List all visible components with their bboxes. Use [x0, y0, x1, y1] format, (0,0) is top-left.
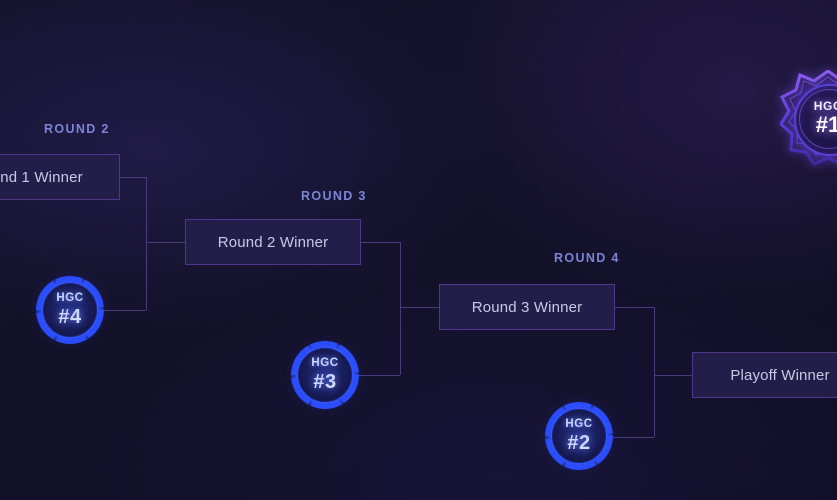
- match-box-round-2-winner[interactable]: Round 2 Winner: [185, 219, 361, 265]
- connector-r3-merge: [400, 307, 439, 308]
- connector-r1-out: [120, 177, 146, 178]
- seed-badge-3[interactable]: HGC#3: [291, 341, 359, 409]
- champion-seed-number: #1: [816, 114, 837, 136]
- champion-tag: HGC: [814, 100, 837, 112]
- round-header-3: ROUND 4: [554, 251, 620, 265]
- connector-r3-out: [615, 307, 654, 308]
- round-header-2: ROUND 3: [301, 189, 367, 203]
- seed-core: HGC#4: [44, 284, 96, 336]
- seed-tag: HGC: [311, 358, 338, 370]
- bracket-canvas: ROUND 2ROUND 3ROUND 4 Round 1 WinnerRoun…: [0, 0, 837, 500]
- match-box-round-3-winner[interactable]: Round 3 Winner: [439, 284, 615, 330]
- match-box-playoff-winner[interactable]: Playoff Winner: [692, 352, 837, 398]
- connector-r2-out: [361, 242, 400, 243]
- connector-r4-bracket-v: [654, 307, 655, 437]
- connector-seed4-out: [104, 310, 146, 311]
- connector-seed2-out: [613, 437, 654, 438]
- connector-r3-bracket-v: [400, 242, 401, 375]
- match-box-round-1-winner[interactable]: Round 1 Winner: [0, 154, 120, 200]
- seed-tag: HGC: [56, 293, 83, 305]
- connector-r2-merge: [146, 242, 185, 243]
- seed-core: HGC#3: [299, 349, 351, 401]
- seed-badge-4[interactable]: HGC#4: [36, 276, 104, 344]
- connector-seed3-out: [359, 375, 400, 376]
- seed-core: HGC#2: [553, 410, 605, 462]
- seed-badge-2[interactable]: HGC#2: [545, 402, 613, 470]
- seed-number: #4: [58, 307, 81, 327]
- seed-badge-1[interactable]: HGC #1: [780, 70, 837, 166]
- connector-r2-bracket-v: [146, 177, 147, 310]
- seed-number: #2: [567, 433, 590, 453]
- connector-r4-merge: [654, 375, 692, 376]
- seed-tag: HGC: [565, 419, 592, 431]
- round-header-1: ROUND 2: [44, 122, 110, 136]
- seed-number: #3: [313, 372, 336, 392]
